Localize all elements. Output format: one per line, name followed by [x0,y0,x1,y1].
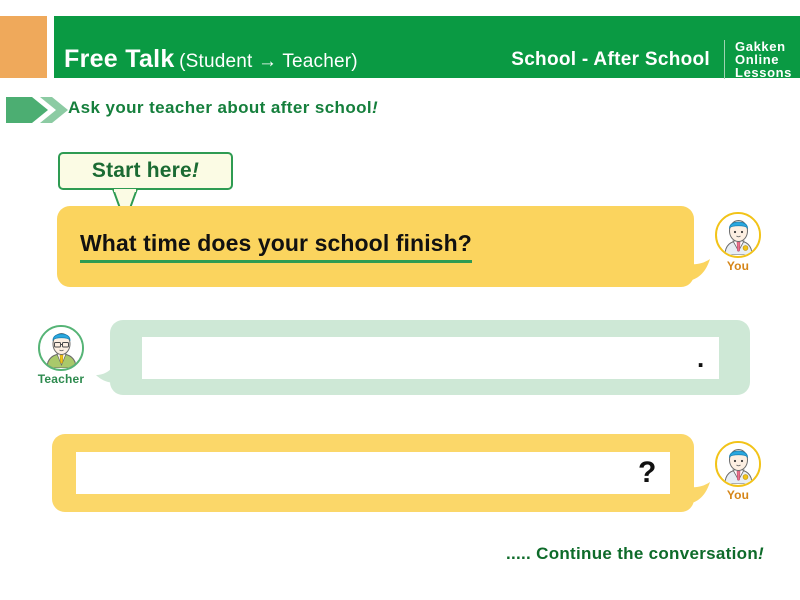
start-here-exclamation: ! [192,159,199,183]
teacher-answer-input[interactable] [142,337,719,379]
header-orange-block [0,16,47,78]
instruction-text: Ask your teacher about after school! [68,98,378,118]
footer-note: ..... Continue the conversation! [506,544,764,564]
footer-text: Continue the conversation [531,544,758,563]
avatar-teacher-1: Teacher [33,325,89,386]
speech-bubble-tail-left [96,363,116,385]
page-title-sub: (Student → Teacher) [179,51,358,72]
start-here-text: Start here [92,159,192,183]
student-question-text: What time does your school finish? [80,230,472,263]
avatar-label-you-1: You [710,259,766,273]
double-chevron-right-icon [6,94,68,126]
footer-exclamation: ! [758,544,764,563]
footer-dots: ..... [506,544,531,563]
avatar-you-1: You [710,212,766,273]
avatar-label-you-2: You [710,488,766,502]
logo-line-3: Lessons [735,66,792,79]
page-title-main: Free Talk [64,45,175,73]
lesson-name: School - After School [511,49,710,71]
student-avatar-icon [715,212,761,258]
speech-bubble-tail-right-2 [685,478,711,508]
instruction-label: Ask your teacher about after school [68,98,372,117]
speech-bubble-tail-right [685,255,711,285]
student-answer-input[interactable] [76,452,670,494]
avatar-you-2: You [710,441,766,502]
student-answer-punctuation: ? [638,452,656,494]
avatar-label-teacher: Teacher [33,372,89,386]
gakken-online-lessons-logo: Gakken Online Lessons [724,40,792,79]
teacher-answer-punctuation: . [697,345,704,371]
student-avatar-icon-2 [715,441,761,487]
teacher-avatar-icon [38,325,84,371]
page-title: Free Talk (Student → Teacher) [64,45,358,74]
start-here-label: Start here! [60,154,231,188]
page-header: Free Talk (Student → Teacher) School - A… [0,16,800,78]
start-here-callout: Start here! [58,152,233,190]
instruction-exclamation: ! [372,98,378,117]
